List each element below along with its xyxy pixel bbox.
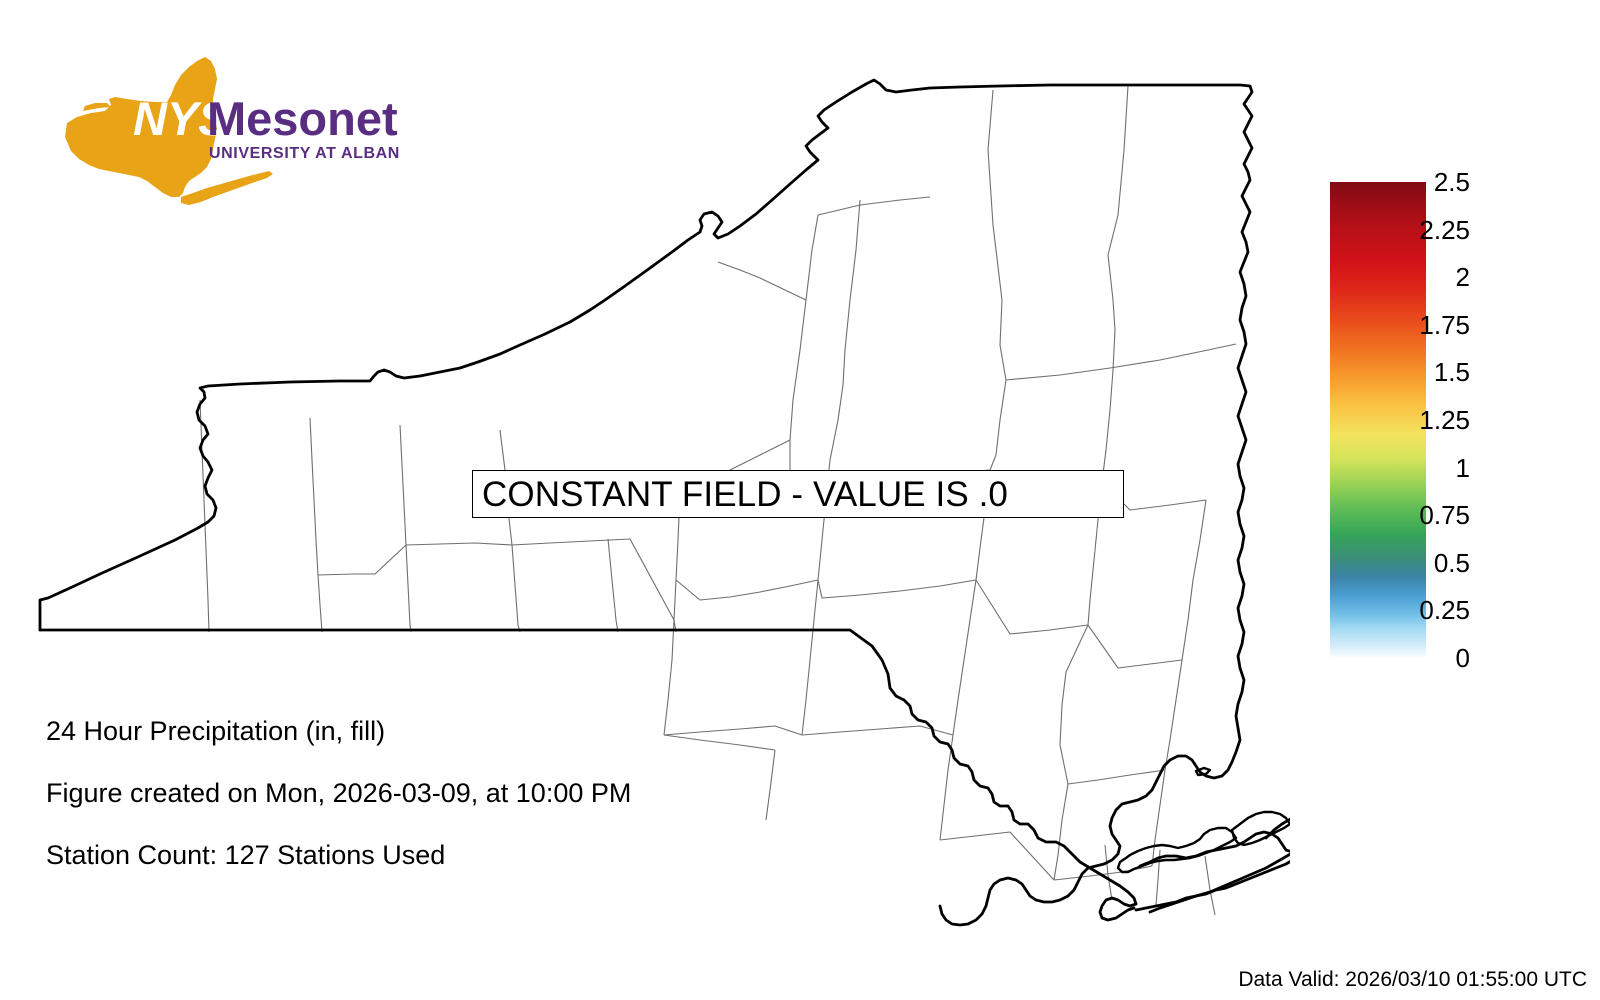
colorbar-tick-1-5: 1.5 (1360, 359, 1470, 385)
colorbar-tick-1-25: 1.25 (1360, 407, 1470, 433)
long-island-detail (1118, 768, 1290, 872)
colorbar-tick-0-75: 0.75 (1360, 502, 1470, 528)
constant-field-banner: CONSTANT FIELD - VALUE IS .0 (472, 470, 1124, 518)
colorbar-tick-0-5: 0.5 (1360, 550, 1470, 576)
colorbar-tick-2-5: 2.5 (1360, 169, 1470, 195)
colorbar-tick-1: 1 (1360, 455, 1470, 481)
logo-mesonet-text: Mesonet (207, 92, 398, 145)
precipitation-colorbar: 2.52.2521.751.51.2510.750.50.250 (1300, 160, 1550, 680)
colorbar-tick-0: 0 (1360, 645, 1470, 671)
colorbar-tick-labels: 2.52.2521.751.51.2510.750.50.250 (1426, 160, 1550, 680)
logo-svg: NYS Mesonet UNIVERSITY AT ALBANY (55, 45, 400, 210)
logo-subtitle-text: UNIVERSITY AT ALBANY (209, 145, 400, 162)
data-valid-timestamp: Data Valid: 2026/03/10 01:55:00 UTC (1238, 969, 1587, 990)
colorbar-tick-2: 2 (1360, 264, 1470, 290)
nys-mesonet-logo: NYS Mesonet UNIVERSITY AT ALBANY (55, 45, 400, 210)
colorbar-tick-1-75: 1.75 (1360, 312, 1470, 338)
colorbar-tick-2-25: 2.25 (1360, 217, 1470, 243)
figure-caption-block: 24 Hour Precipitation (in, fill) Figure … (46, 718, 846, 904)
caption-created-timestamp: Figure created on Mon, 2026-03-09, at 10… (46, 780, 846, 807)
caption-station-count: Station Count: 127 Stations Used (46, 842, 846, 869)
colorbar-tick-0-25: 0.25 (1360, 597, 1470, 623)
constant-field-message: CONSTANT FIELD - VALUE IS .0 (473, 477, 1008, 512)
caption-field-label: 24 Hour Precipitation (in, fill) (46, 718, 846, 745)
